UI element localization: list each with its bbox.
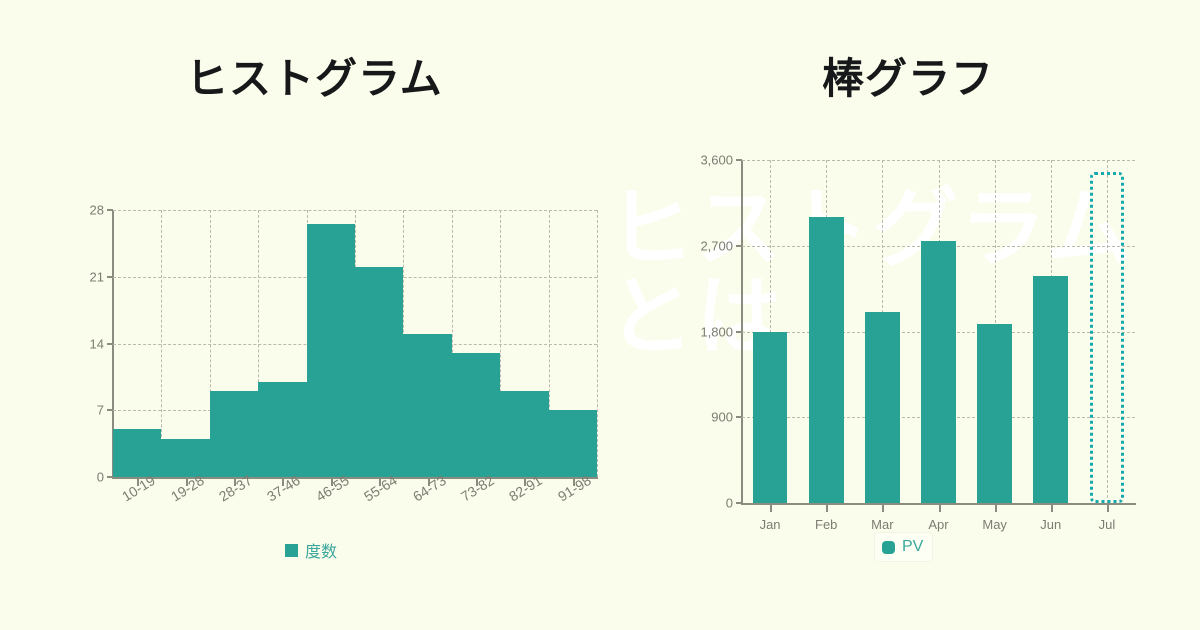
y-tick-mark bbox=[107, 276, 113, 278]
y-tick-label: 21 bbox=[90, 269, 104, 284]
bar[interactable] bbox=[307, 224, 355, 477]
bar[interactable] bbox=[549, 410, 597, 477]
legend-swatch-icon bbox=[882, 541, 895, 554]
x-tick-mark bbox=[1051, 505, 1053, 512]
x-tick-label: Jan bbox=[760, 517, 781, 532]
legend-label-pv: PV bbox=[902, 538, 923, 556]
bar[interactable] bbox=[355, 267, 403, 477]
y-tick-label: 0 bbox=[726, 496, 733, 511]
x-gridline bbox=[161, 210, 162, 477]
y-tick-label: 3,600 bbox=[700, 153, 733, 168]
y-tick-mark bbox=[736, 502, 742, 504]
y-tick-mark bbox=[107, 409, 113, 411]
bar-outline[interactable] bbox=[1090, 172, 1125, 503]
bar[interactable] bbox=[921, 241, 956, 503]
x-tick-label: Feb bbox=[815, 517, 837, 532]
y-tick-label: 0 bbox=[97, 470, 104, 485]
x-tick-mark bbox=[995, 505, 997, 512]
histogram-legend[interactable]: 度数 bbox=[285, 538, 337, 562]
y-tick-mark bbox=[736, 416, 742, 418]
y-tick-label: 1,800 bbox=[700, 324, 733, 339]
histogram-plot-area: 0714212810-1919-2828-3737-4646-5555-6464… bbox=[113, 210, 597, 477]
y-tick-label: 28 bbox=[90, 203, 104, 218]
x-tick-mark bbox=[1107, 505, 1109, 512]
bar[interactable] bbox=[258, 382, 306, 477]
x-tick-mark bbox=[882, 505, 884, 512]
bar[interactable] bbox=[865, 312, 900, 503]
y-tick-label: 900 bbox=[711, 410, 733, 425]
y-tick-mark bbox=[107, 209, 113, 211]
y-tick-label: 7 bbox=[97, 403, 104, 418]
bar[interactable] bbox=[452, 353, 500, 477]
bar[interactable] bbox=[1033, 276, 1068, 503]
x-tick-label: Apr bbox=[928, 517, 948, 532]
y-tick-mark bbox=[736, 245, 742, 247]
bar[interactable] bbox=[809, 217, 844, 503]
x-tick-mark bbox=[826, 505, 828, 512]
x-tick-label: Jul bbox=[1099, 517, 1116, 532]
bargraph-legend[interactable]: PV bbox=[875, 533, 932, 561]
legend-label-frequency: 度数 bbox=[305, 538, 337, 562]
x-tick-mark bbox=[770, 505, 772, 512]
bar[interactable] bbox=[113, 429, 161, 477]
x-tick-mark bbox=[939, 505, 941, 512]
bar[interactable] bbox=[210, 391, 258, 477]
chart-canvas: ヒストグラム とは ヒストグラム 0714212810-1919-2828-37… bbox=[0, 0, 1200, 630]
bar[interactable] bbox=[500, 391, 548, 477]
x-gridline bbox=[597, 210, 598, 477]
y-tick-mark bbox=[107, 343, 113, 345]
y-tick-mark bbox=[736, 331, 742, 333]
y-axis-line bbox=[741, 160, 743, 505]
bar[interactable] bbox=[977, 324, 1012, 503]
legend-swatch-icon bbox=[285, 544, 298, 557]
y-tick-label: 14 bbox=[90, 336, 104, 351]
x-tick-label: Mar bbox=[871, 517, 893, 532]
bargraph-title: 棒グラフ bbox=[822, 45, 994, 106]
histogram-title: ヒストグラム bbox=[186, 45, 443, 106]
bar[interactable] bbox=[753, 332, 788, 504]
bar[interactable] bbox=[161, 439, 209, 477]
x-tick-label: May bbox=[982, 517, 1007, 532]
y-tick-mark bbox=[736, 159, 742, 161]
bar[interactable] bbox=[403, 334, 451, 477]
y-tick-label: 2,700 bbox=[700, 238, 733, 253]
bargraph-plot-area: 09001,8002,7003,600JanFebMarAprMayJunJul bbox=[742, 160, 1135, 503]
x-tick-label: Jun bbox=[1040, 517, 1061, 532]
